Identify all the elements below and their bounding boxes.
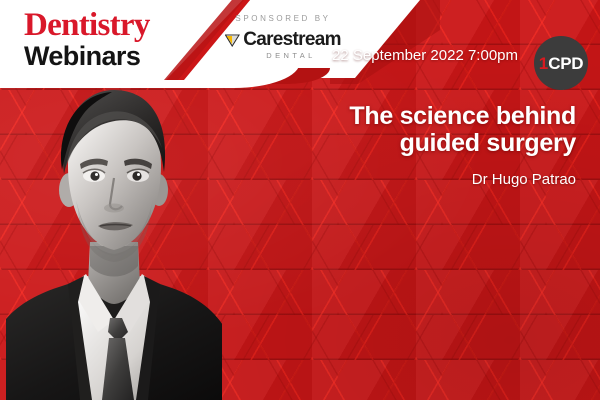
webinar-title-block: The science behind guided surgery Dr Hug… (246, 103, 576, 188)
cpd-label: CPD (548, 55, 583, 72)
logo-line-webinars: Webinars (24, 42, 150, 71)
dentistry-webinars-logo[interactable]: Dentistry Webinars (24, 9, 150, 71)
carestream-wordmark: Carestream (243, 30, 341, 49)
logo-line-dentistry: Dentistry (24, 9, 150, 42)
event-date: 22 September 2022 7:00pm (332, 47, 518, 64)
speaker-portrait (6, 70, 222, 400)
webinar-title-line-1: The science behind (246, 103, 576, 130)
cpd-badge: 1 CPD (534, 36, 588, 90)
cpd-hours-count: 1 (539, 55, 548, 72)
webinar-speaker-name: Dr Hugo Patrao (246, 171, 576, 188)
webinar-title-line-2: guided surgery (246, 130, 576, 157)
webinar-promo-banner: Dentistry Webinars SPONSORED BY Carestre… (0, 0, 600, 400)
carestream-triangle-icon (225, 33, 240, 47)
sponsored-by-label: SPONSORED BY (213, 14, 353, 23)
